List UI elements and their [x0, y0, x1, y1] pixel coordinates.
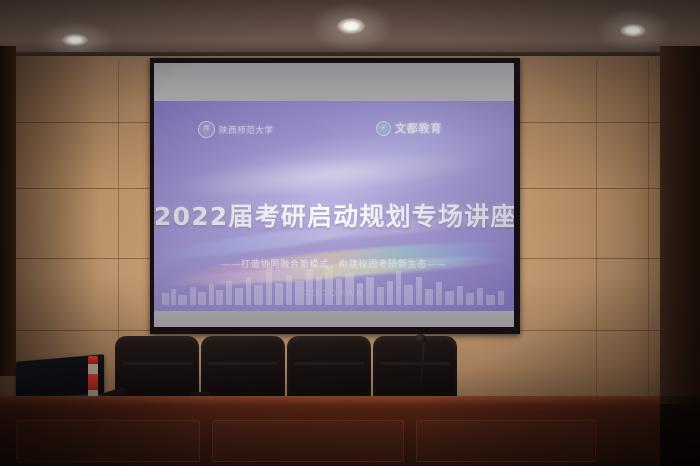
projection-idle-band-bottom	[154, 311, 514, 327]
conference-chair	[201, 336, 285, 404]
ceiling-downlight-right-icon	[620, 24, 646, 37]
microphone-head-icon	[415, 334, 426, 343]
podium-shading	[0, 396, 700, 466]
left-pillar	[0, 46, 16, 376]
water-bottle-cap	[88, 356, 98, 364]
ceiling-downlight-left-icon	[62, 34, 88, 46]
projection-screen: 师 陕西师范大学 ✓ 文都教育 2022届考研启动规划专场讲座 ——打造协同融合…	[150, 58, 520, 334]
water-bottle-label	[88, 374, 98, 390]
conference-chair	[287, 336, 371, 404]
ceiling-downlight-center-icon	[337, 18, 365, 34]
presentation-slide: 师 陕西师范大学 ✓ 文都教育 2022届考研启动规划专场讲座 ——打造协同融合…	[154, 101, 514, 311]
conference-chair	[373, 336, 457, 404]
conference-room-photo: 师 陕西师范大学 ✓ 文都教育 2022届考研启动规划专场讲座 ——打造协同融合…	[0, 0, 700, 466]
slide-vignette	[154, 101, 514, 311]
projection-idle-band-top	[154, 63, 514, 101]
projection-surface: 师 陕西师范大学 ✓ 文都教育 2022届考研启动规划专场讲座 ——打造协同融合…	[154, 63, 514, 327]
